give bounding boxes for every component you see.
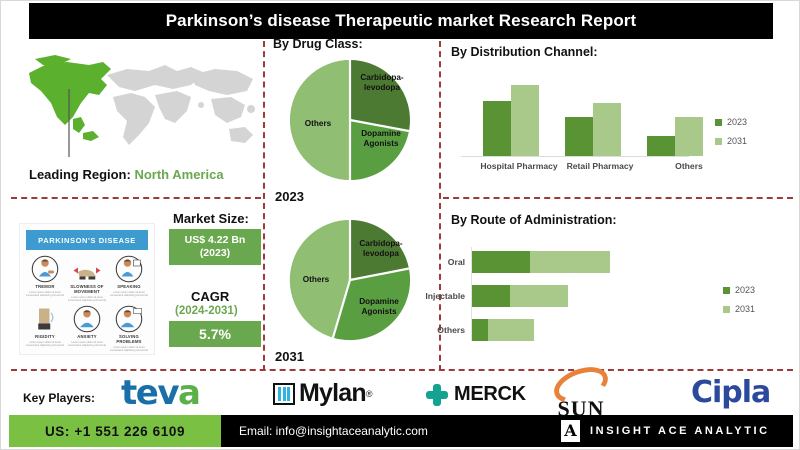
speaking-icon xyxy=(114,254,144,284)
symptom-label: RIGIDITY xyxy=(35,335,55,340)
market-size-badge: US$ 4.22 Bn (2023) xyxy=(169,229,261,265)
stacked-category-injectable: Injectable xyxy=(397,291,465,301)
legend-swatch-2031 xyxy=(723,306,730,313)
footer-brand: A INSIGHT ACE ANALYTIC xyxy=(561,420,770,442)
symptom-item: SLOWNESS OF MOVEMENT Lorem ipsum dolor s… xyxy=(67,254,107,302)
symptom-item: SPEAKING Lorem ipsum dolor sit amet cons… xyxy=(109,254,149,302)
legend-distribution-channel: 2023 2031 xyxy=(715,117,747,146)
leading-region-label: Leading Region: xyxy=(29,167,131,182)
bar-retail-2023 xyxy=(565,117,593,156)
header-bar: Parkinson’s disease Therapeutic market R… xyxy=(29,3,773,39)
symptom-blurb: Lorem ipsum dolor sit amet consectetur a… xyxy=(109,346,149,352)
symptom-label: SPEAKING xyxy=(117,285,140,290)
symptom-blurb: Lorem ipsum dolor sit amet consectetur a… xyxy=(109,291,149,297)
bar-category-others: Others xyxy=(639,161,739,171)
symptom-item: ANXIETY Lorem ipsum dolor sit amet conse… xyxy=(67,304,107,352)
legend-item-2031: 2031 xyxy=(723,304,755,314)
page-title: Parkinson’s disease Therapeutic market R… xyxy=(166,11,637,31)
insightace-logo-icon: A xyxy=(561,420,580,442)
segment-others-2031 xyxy=(488,319,534,341)
teva-logo-text-accent: a xyxy=(178,373,199,413)
infographic-page: Parkinson’s disease Therapeutic market R… xyxy=(0,0,800,450)
legend-route-of-administration: 2023 2031 xyxy=(723,285,755,314)
pie-label-others-2031: Others xyxy=(293,275,339,285)
bar-category-retail-pharmacy: Retail Pharmacy xyxy=(547,161,653,171)
section-title-route-of-administration: By Route of Administration: xyxy=(451,213,617,227)
logo-cipla: Cipla xyxy=(691,375,770,410)
market-size-year: (2023) xyxy=(200,247,230,260)
footer-brand-text: INSIGHT ACE ANALYTIC xyxy=(590,425,770,437)
stacked-row-injectable xyxy=(472,285,568,307)
symptom-label: SLOWNESS OF MOVEMENT xyxy=(67,285,107,295)
bar-chart-distribution-channel xyxy=(461,69,689,157)
cagr-badge: 5.7% xyxy=(169,321,261,347)
pie-label-carbidopa-2023: Carbidopa-levodopa xyxy=(351,73,413,92)
stacked-bar-chart-route-of-administration xyxy=(471,251,701,337)
mylan-logo-text: Mylan xyxy=(299,379,366,408)
chart-axis-line xyxy=(461,156,689,157)
legend-label-2023: 2023 xyxy=(735,285,755,295)
bar-others-2031 xyxy=(675,117,703,156)
teva-logo-text-primary: tev xyxy=(121,373,178,413)
anxiety-icon xyxy=(72,304,102,334)
symptom-item: TREMOR Lorem ipsum dolor sit amet consec… xyxy=(25,254,65,302)
symptom-label: SOLVING PROBLEMS xyxy=(109,335,149,345)
cipla-logo-text: Cipla xyxy=(691,375,770,410)
mylan-mark-icon xyxy=(273,383,295,405)
footer-email: Email: info@insightaceanalytic.com xyxy=(239,424,428,438)
footer-phone-block: US: +1 551 226 6109 xyxy=(9,415,221,447)
symptom-label: TREMOR xyxy=(35,285,54,290)
pie-label-carbidopa-2031: Carbidopa-levodopa xyxy=(349,239,413,258)
pie-label-dopamine-2023: Dopamine Agonists xyxy=(351,129,411,148)
segment-injectable-2031 xyxy=(510,285,568,307)
tremor-icon xyxy=(30,254,60,284)
symptom-item: SOLVING PROBLEMS Lorem ipsum dolor sit a… xyxy=(109,304,149,352)
parkinsons-disease-illustration: PARKINSON'S DISEASE TREMOR Lorem ipsum d… xyxy=(19,223,155,355)
bar-group-others xyxy=(647,117,703,156)
segment-injectable-2023 xyxy=(472,285,510,307)
market-size-value: US$ 4.22 Bn xyxy=(185,234,246,247)
legend-item-2023: 2023 xyxy=(723,285,755,295)
symptom-blurb: Lorem ipsum dolor sit amet consectetur a… xyxy=(67,341,107,347)
cagr-years: (2024-2031) xyxy=(175,305,238,317)
bar-others-2023 xyxy=(647,136,675,156)
illustration-title: PARKINSON'S DISEASE xyxy=(26,230,148,250)
logo-merck: MERCK xyxy=(426,383,526,406)
market-size-label: Market Size: xyxy=(173,211,249,226)
rigidity-icon xyxy=(30,304,60,334)
mylan-registered-icon: ® xyxy=(366,389,373,399)
stacked-row-oral xyxy=(472,251,610,273)
divider-horizontal-right xyxy=(443,197,793,199)
pie-slice-carbidopa-2023 xyxy=(350,60,410,131)
bar-retail-2031 xyxy=(593,103,621,156)
segment-others-2023 xyxy=(472,319,488,341)
segment-oral-2023 xyxy=(472,251,530,273)
legend-label-2023: 2023 xyxy=(727,117,747,127)
merck-mark-icon xyxy=(426,384,448,406)
bar-group-retail-pharmacy xyxy=(565,103,621,156)
segment-oral-2031 xyxy=(530,251,610,273)
legend-swatch-2031 xyxy=(715,138,722,145)
divider-horizontal-left xyxy=(11,197,261,199)
divider-vertical-left xyxy=(263,41,265,371)
section-title-drug-class: By Drug Class: xyxy=(273,37,363,51)
leading-region: Leading Region: North America xyxy=(29,167,224,182)
solving-problems-icon xyxy=(114,304,144,334)
symptom-item: RIGIDITY Lorem ipsum dolor sit amet cons… xyxy=(25,304,65,352)
merck-logo-text: MERCK xyxy=(454,383,526,406)
divider-vertical-mid xyxy=(439,41,441,371)
legend-item-2031: 2031 xyxy=(715,136,747,146)
symptom-grid: TREMOR Lorem ipsum dolor sit amet consec… xyxy=(20,254,154,352)
logo-mylan: Mylan ® xyxy=(273,379,373,408)
legend-label-2031: 2031 xyxy=(727,136,747,146)
bar-group-hospital-pharmacy xyxy=(483,85,539,156)
legend-item-2023: 2023 xyxy=(715,117,747,127)
north-america-highlight xyxy=(29,55,111,141)
stacked-row-others xyxy=(472,319,534,341)
world-map-svg xyxy=(15,45,263,163)
divider-horizontal-bottom xyxy=(11,369,793,371)
stacked-category-others: Others xyxy=(403,325,465,335)
symptom-blurb: Lorem ipsum dolor sit amet consectetur a… xyxy=(25,291,65,297)
legend-swatch-2023 xyxy=(715,119,722,126)
slowness-of-movement-icon xyxy=(72,254,102,284)
stacked-category-oral: Oral xyxy=(403,257,465,267)
logo-teva: teva xyxy=(121,373,199,413)
legend-swatch-2023 xyxy=(723,287,730,294)
key-players-label: Key Players: xyxy=(23,391,95,405)
pie-year-2031: 2031 xyxy=(275,349,304,364)
symptom-label: ANXIETY xyxy=(77,335,97,340)
bar-hospital-2023 xyxy=(483,101,511,156)
symptom-blurb: Lorem ipsum dolor sit amet consectetur a… xyxy=(67,296,107,302)
pie-label-others-2023: Others xyxy=(295,119,341,129)
pie-year-2023: 2023 xyxy=(275,189,304,204)
footer-phone: US: +1 551 226 6109 xyxy=(45,424,185,439)
section-title-distribution-channel: By Distribution Channel: xyxy=(451,45,598,59)
cagr-value: 5.7% xyxy=(199,326,231,342)
world-map xyxy=(15,45,263,163)
symptom-blurb: Lorem ipsum dolor sit amet consectetur a… xyxy=(25,341,65,347)
legend-label-2031: 2031 xyxy=(735,304,755,314)
cagr-label: CAGR xyxy=(191,289,229,304)
bar-hospital-2031 xyxy=(511,85,539,156)
leading-region-value: North America xyxy=(134,167,223,182)
